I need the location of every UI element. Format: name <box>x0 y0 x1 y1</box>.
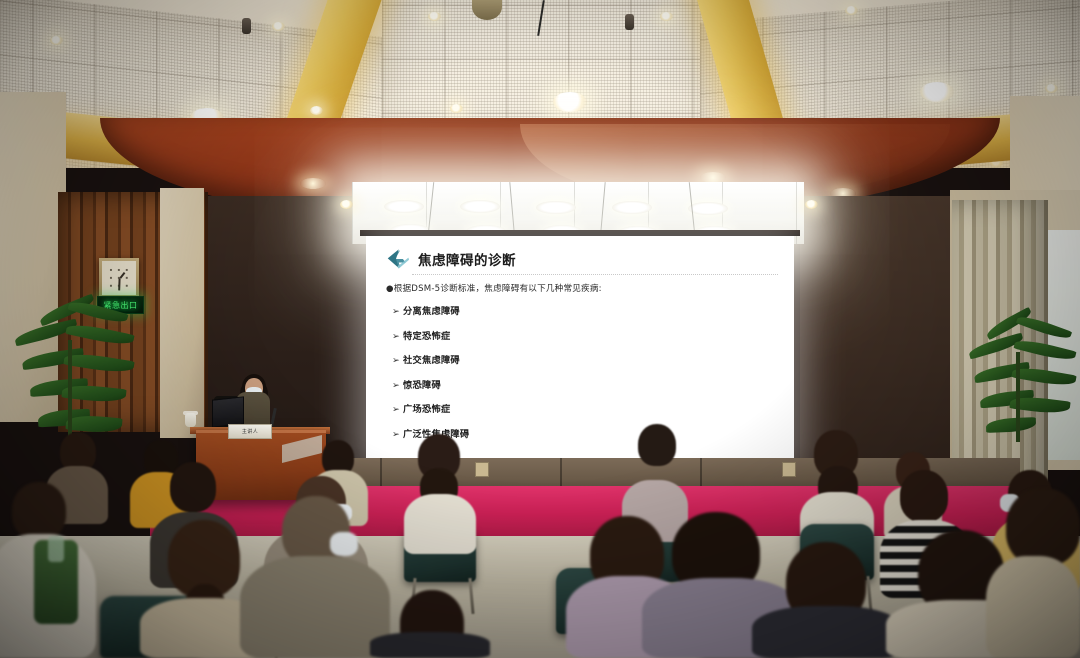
recessed-downlight <box>450 104 463 113</box>
palm-plant-right <box>960 318 1080 448</box>
wall-downlight <box>340 200 353 209</box>
list-marker: ➢ <box>392 306 400 317</box>
recessed-downlight <box>272 22 285 31</box>
recessed-downlight <box>660 12 673 21</box>
water-bottle <box>48 536 64 562</box>
list-label: 惊恐障碍 <box>403 380 441 391</box>
wall-dark-right <box>800 196 960 462</box>
slide-intro-bullet: ●根据DSM-5诊断标准，焦虑障碍有以下几种常见疾病: <box>386 282 778 294</box>
list-label: 社交焦虑障碍 <box>403 355 460 366</box>
list-marker: ➢ <box>392 355 400 366</box>
wall-downlight <box>805 200 818 209</box>
slide-header: 焦虑障碍的诊断 <box>382 246 778 272</box>
recessed-downlight <box>845 6 858 15</box>
recessed-downlight <box>920 82 954 102</box>
wall-clock <box>99 258 139 298</box>
recessed-downlight <box>553 92 587 112</box>
list-marker: ➢ <box>392 331 400 342</box>
laptop <box>212 396 244 427</box>
projection-screen: 焦虑障碍的诊断 ●根据DSM-5诊断标准，焦虑障碍有以下几种常见疾病: ➢分离焦… <box>366 236 794 466</box>
slide-title-rule <box>412 274 778 275</box>
slide-title: 焦虑障碍的诊断 <box>418 249 516 269</box>
list-label: 广场恐怖症 <box>403 404 450 415</box>
list-marker: ➢ <box>392 429 400 440</box>
lecture-hall-photo: 紧急出口 <box>0 0 1080 658</box>
recessed-downlight <box>1045 84 1058 93</box>
nameplate-label: 主讲人 <box>242 428 258 435</box>
tea-cup <box>185 413 196 427</box>
wall-outlet <box>475 462 489 477</box>
chevron-left-icon <box>382 248 410 270</box>
wall-outlet <box>782 462 796 477</box>
palm-plant-left <box>8 300 138 450</box>
slide-list-item: ➢社交焦虑障碍 <box>392 352 778 366</box>
list-marker: ➢ <box>392 404 400 415</box>
ceiling-speaker <box>625 14 634 30</box>
slide-list-item: ➢广场恐怖症 <box>392 401 778 415</box>
slide-list-item: ➢分离焦虑障碍 <box>392 303 778 317</box>
slide-list-item: ➢惊恐障碍 <box>392 377 778 391</box>
pillar <box>160 188 204 438</box>
soffit-downlight <box>300 178 326 189</box>
recessed-downlight <box>428 12 441 21</box>
recessed-downlight <box>310 106 323 115</box>
list-label: 特定恐怖症 <box>403 331 450 342</box>
recessed-downlight <box>50 36 63 45</box>
ceiling-speaker <box>242 18 251 34</box>
slide-list-item: ➢特定恐怖症 <box>392 328 778 342</box>
nameplate: 主讲人 <box>228 424 272 439</box>
list-label: 分离焦虑障碍 <box>403 306 460 317</box>
list-marker: ➢ <box>392 380 400 391</box>
